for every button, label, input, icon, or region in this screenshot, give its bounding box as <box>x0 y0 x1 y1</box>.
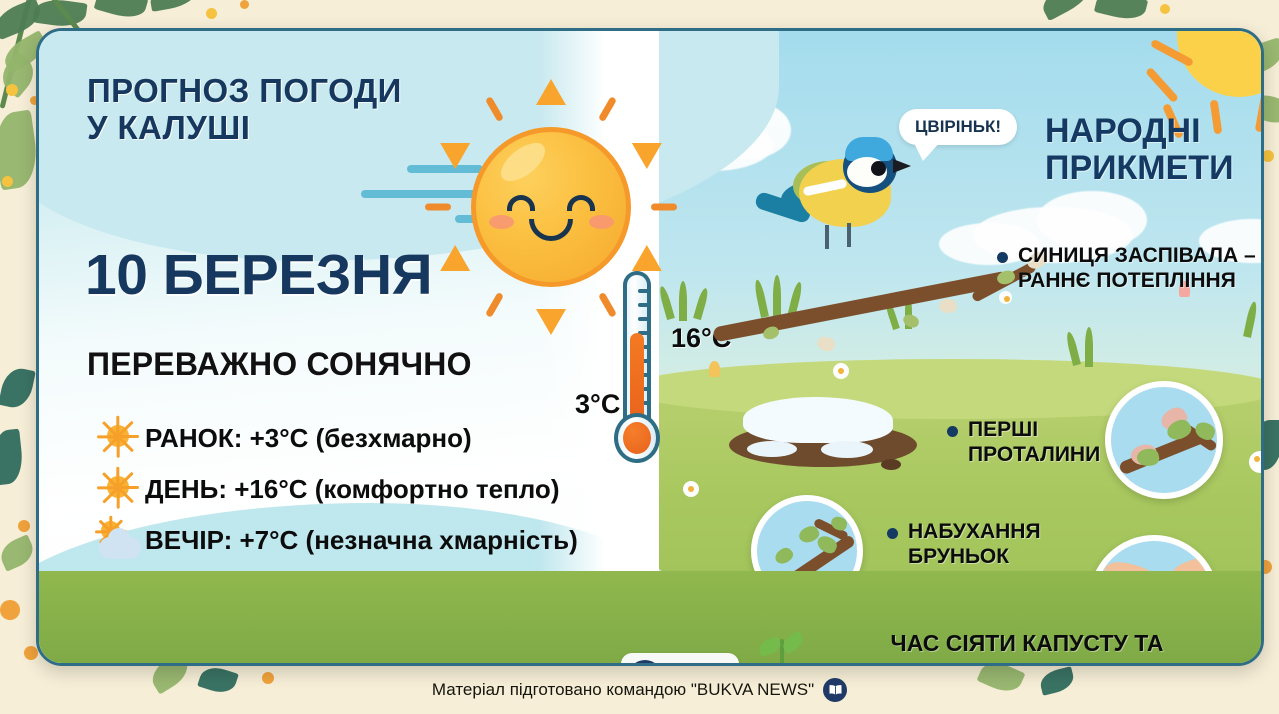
sprout-icon <box>755 631 809 666</box>
sun-icon <box>91 417 145 461</box>
forecast-label-day: ДЕНЬ: +16°C <box>145 474 308 504</box>
bullet-icon <box>947 426 958 437</box>
inset-budding-branch-right <box>1105 381 1223 499</box>
omen-text-2: ПЕРШІ ПРОТАЛИНИ <box>968 417 1100 467</box>
omens-title-line-1: НАРОДНІ <box>1045 113 1234 150</box>
bird-speech-bubble: ЦВІРІНЬК! <box>899 109 1017 145</box>
forecast-card: ПРОГНОЗ ПОГОДИ У КАЛУШІ 10 БЕРЕЗНЯ ПЕРЕВ… <box>36 28 1264 666</box>
footer: Матеріал підготовано командою "BUKVA NEW… <box>0 666 1279 714</box>
forecast-date: 10 БЕРЕЗНЯ <box>85 247 432 304</box>
forecast-row-day: ДЕНЬ: +16°C (комфортно тепло) <box>91 464 651 515</box>
omen-item-3: НАБУХАННЯ БРУНЬОК <box>887 519 1107 569</box>
forecast-summary: ПЕРЕВАЖНО СОНЯЧНО <box>87 346 472 383</box>
sun-cloud-icon <box>91 519 145 563</box>
forecast-label-evening: ВЕЧІР: +7°C <box>145 525 298 555</box>
title-line-2: У КАЛУШІ <box>87 110 402 147</box>
omen-item-1: СИНИЦЯ ЗАСПІВАЛА – РАННЄ ПОТЕПЛІННЯ <box>997 243 1264 293</box>
title-line-1: ПРОГНОЗ ПОГОДИ <box>87 73 402 110</box>
bullet-icon <box>997 252 1008 263</box>
blue-tit-bird <box>769 127 919 247</box>
open-book-icon <box>823 678 847 702</box>
footer-text: Матеріал підготовано командою "BUKVA NEW… <box>432 680 814 700</box>
bukva-news-logo[interactable]: BUKVA NEWS <box>621 653 739 666</box>
omens-title: НАРОДНІ ПРИКМЕТИ <box>1045 113 1234 188</box>
infographic-root: ПРОГНОЗ ПОГОДИ У КАЛУШІ 10 БЕРЕЗНЯ ПЕРЕВ… <box>0 0 1279 714</box>
forecast-note-morning: (безхмарно) <box>316 423 472 453</box>
forecast-list: РАНОК: +3°C (безхмарно) ДЕНЬ: <box>91 413 651 566</box>
omens-title-line-2: ПРИКМЕТИ <box>1045 150 1234 187</box>
forecast-row-evening: ВЕЧІР: +7°C (незначна хмарність) <box>91 515 651 566</box>
omen-text-1: СИНИЦЯ ЗАСПІВАЛА – РАННЄ ПОТЕПЛІННЯ <box>1018 243 1256 293</box>
forecast-note-day: (комфортно тепло) <box>315 474 560 504</box>
sowing-note: ЧАС СІЯТИ КАПУСТУ ТА ПОМІДОРИ НА РОЗСАДУ <box>807 629 1247 666</box>
bullet-icon <box>887 528 898 539</box>
melting-snow-patch <box>729 397 917 473</box>
forecast-label-morning: РАНОК: +3°C <box>145 423 308 453</box>
forecast-row-morning: РАНОК: +3°C (безхмарно) <box>91 413 651 464</box>
sun-icon <box>471 127 631 287</box>
page-title: ПРОГНОЗ ПОГОДИ У КАЛУШІ <box>87 73 402 147</box>
sun-icon <box>91 468 145 512</box>
forecast-note-evening: (незначна хмарність) <box>306 525 578 555</box>
omen-text-3: НАБУХАННЯ БРУНЬОК <box>908 519 1041 569</box>
